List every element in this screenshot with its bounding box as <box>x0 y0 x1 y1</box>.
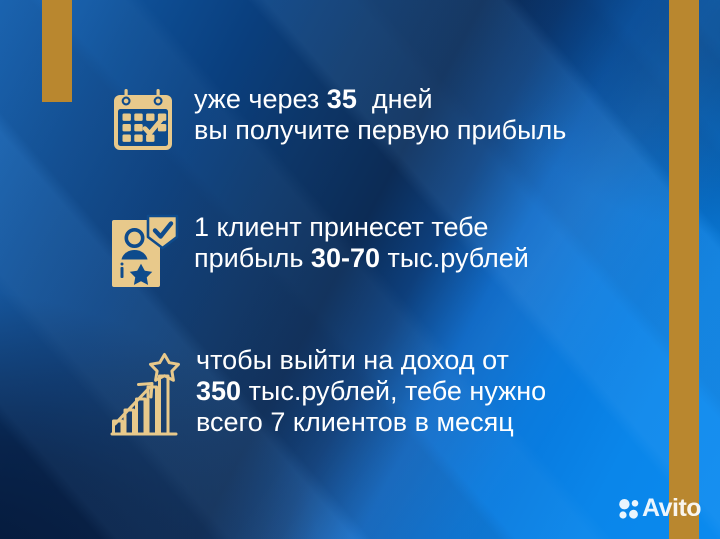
benefit-text-3: чтобы выйти на доход от350 тыс.рублей, т… <box>196 345 546 437</box>
benefit-text-1: уже через 35 днейвы получите первую приб… <box>194 84 566 146</box>
promo-banner: уже через 35 днейвы получите первую приб… <box>0 0 720 539</box>
id-card-verified-icon <box>108 212 180 290</box>
benefit-item-3: чтобы выйти на доход от350 тыс.рублей, т… <box>104 345 546 443</box>
avito-watermark: Avito <box>618 496 701 521</box>
benefit-text-run: дней <box>357 84 433 114</box>
avito-wordmark: Avito <box>642 496 701 521</box>
benefit-line: 350 тыс.рублей, тебе нужно <box>196 376 546 407</box>
benefit-text-2: 1 клиент принесет тебеприбыль 30-70 тыс.… <box>194 212 529 274</box>
benefit-item-1: уже через 35 днейвы получите первую приб… <box>110 84 566 154</box>
benefit-line: вы получите первую прибыль <box>194 115 566 146</box>
benefit-text-run: прибыль <box>194 243 311 273</box>
benefit-line: прибыль 30-70 тыс.рублей <box>194 243 529 274</box>
benefit-text-run: 1 клиент принесет тебе <box>194 212 488 242</box>
benefit-text-run: тыс.рублей <box>380 243 529 273</box>
benefit-highlight-value: 30-70 <box>311 243 380 273</box>
benefit-line: чтобы выйти на доход от <box>196 345 546 376</box>
benefit-line: 1 клиент принесет тебе <box>194 212 529 243</box>
benefit-line: всего 7 клиентов в месяц <box>196 407 546 438</box>
benefit-item-2: 1 клиент принесет тебеприбыль 30-70 тыс.… <box>108 210 529 290</box>
benefit-text-run: чтобы выйти на доход от <box>196 345 509 375</box>
calendar-check-icon <box>110 88 176 154</box>
avito-dots-logo-icon <box>618 498 640 520</box>
growth-chart-star-icon <box>104 351 182 443</box>
benefit-text-run: тыс.рублей, тебе нужно <box>241 376 546 406</box>
benefit-line: уже через 35 дней <box>194 84 566 115</box>
benefit-highlight-value: 35 <box>327 84 357 114</box>
benefit-text-run: всего 7 клиентов в месяц <box>196 407 514 437</box>
benefit-list: уже через 35 днейвы получите первую приб… <box>0 0 720 539</box>
benefit-text-run: вы получите первую прибыль <box>194 115 566 145</box>
benefit-highlight-value: 350 <box>196 376 241 406</box>
benefit-text-run: уже через <box>194 84 327 114</box>
